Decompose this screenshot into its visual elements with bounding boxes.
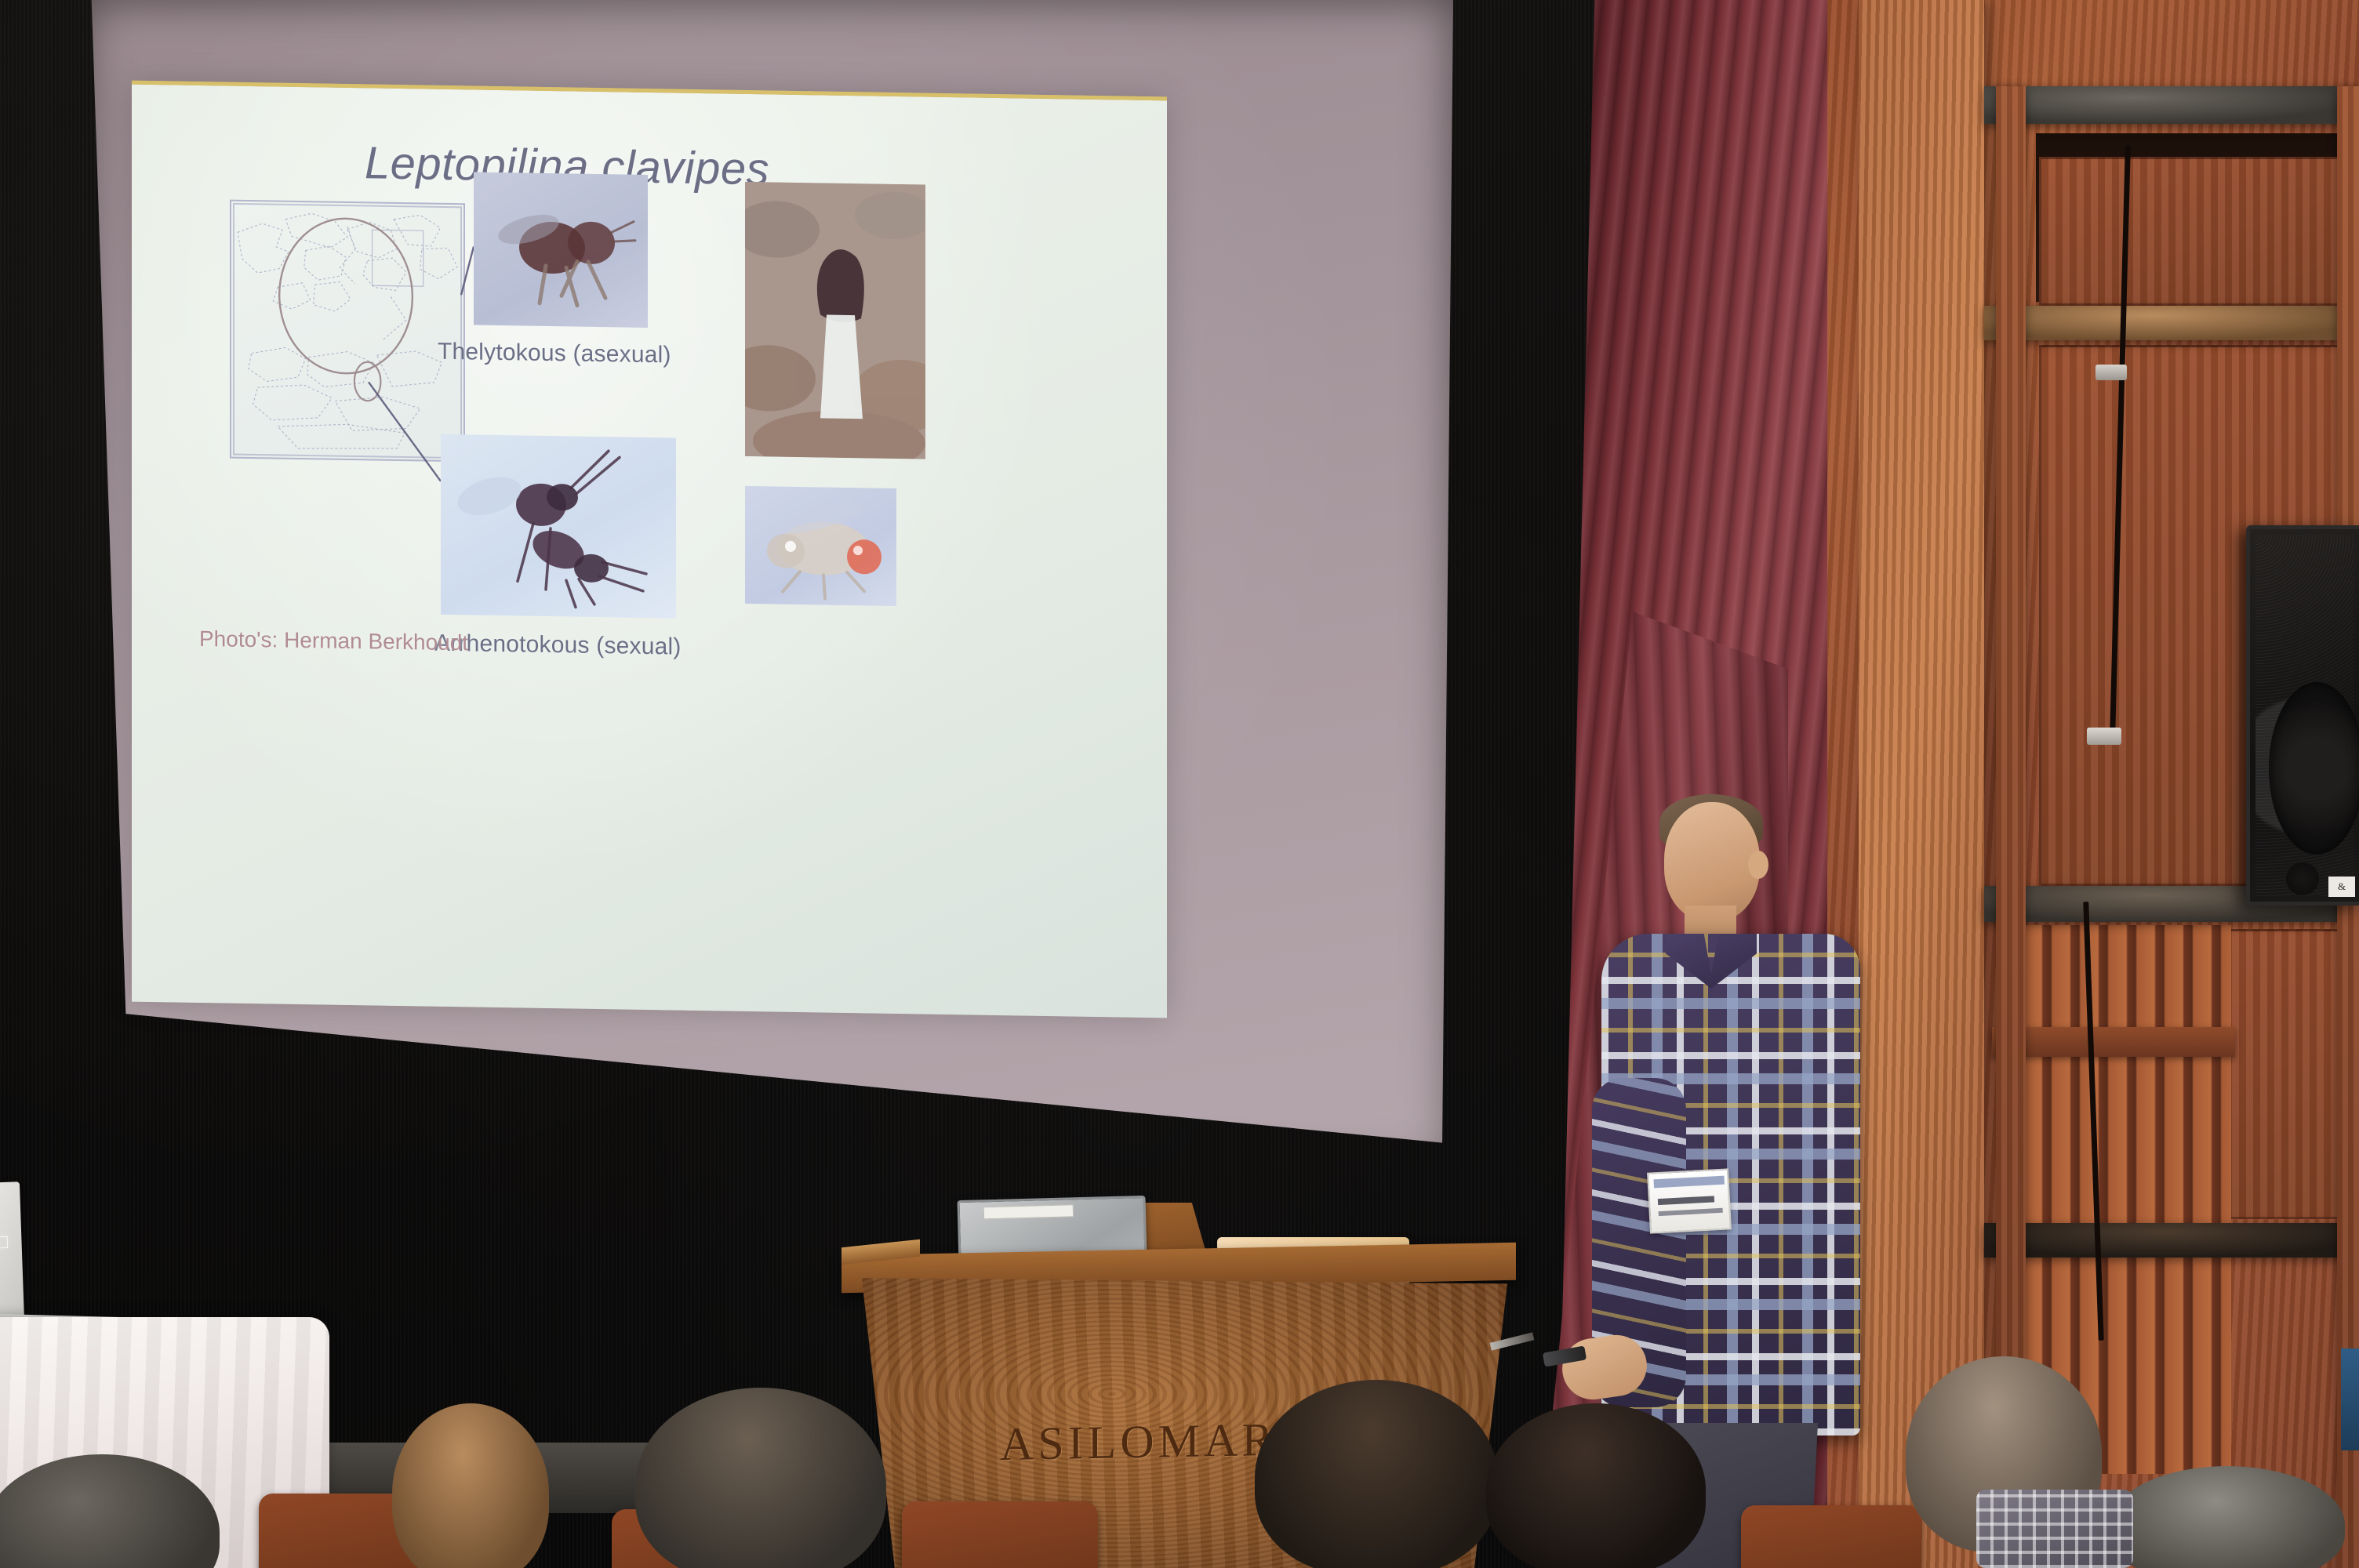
balustrade-rail <box>1992 1027 2235 1057</box>
badge-affiliation-line <box>1659 1208 1723 1216</box>
presentation-photo-scene: Leptopilina clavipes <box>0 0 2359 1568</box>
europe-distribution-map <box>230 200 465 463</box>
speaker-badge: & <box>2328 877 2355 897</box>
presenter-head <box>1664 802 1760 921</box>
badge-name-line <box>1658 1196 1714 1205</box>
wood-beam-horizontal-2 <box>1984 306 2359 340</box>
caption-arrhenotokous: Arrhenotokous (sexual) <box>434 630 682 661</box>
speaker-tweeter <box>2286 862 2319 895</box>
wood-beam-vertical-1 <box>1996 86 2026 1568</box>
audience-chair-back <box>1741 1505 1921 1568</box>
audience-member-head <box>1255 1380 1498 1568</box>
badge-header-strip <box>1653 1176 1724 1189</box>
audience-member-head <box>1486 1403 1706 1568</box>
photo-credit: Photo's: Herman Berkhoudt <box>199 626 468 655</box>
podium-engraved-label: ASILOMAR <box>1000 1413 1277 1472</box>
dell-asset-sticker <box>983 1204 1074 1219</box>
wood-post <box>1859 0 1984 1568</box>
stinkhorn-mushroom-photo <box>745 182 925 459</box>
apple-logo-icon-side:  <box>0 1232 9 1254</box>
audience-chair-back <box>902 1501 1098 1568</box>
audience-member-garment <box>1976 1490 2133 1568</box>
wasp-thelytokous-photo <box>474 172 648 327</box>
map-svg <box>231 201 463 461</box>
cable-clip-2 <box>2087 728 2121 745</box>
pa-speaker: & <box>2246 525 2359 906</box>
presenter-ear <box>1748 851 1768 879</box>
caption-thelytokous: Thelytokous (asexual) <box>438 339 671 369</box>
wood-beam-horizontal-1 <box>1984 86 2359 124</box>
wasp-arrhenotokous-pair-photo <box>441 434 676 619</box>
wall-panel-top <box>2039 157 2351 306</box>
blue-wall-strip <box>2341 1348 2359 1450</box>
speaker-woofer <box>2269 682 2359 855</box>
presenter-name-badge <box>1647 1168 1732 1233</box>
cable-clip-1 <box>2095 365 2127 380</box>
wood-beam-horizontal-4 <box>1984 1223 2359 1258</box>
projected-slide: Leptopilina clavipes <box>132 81 1167 1018</box>
drosophila-fly-photo <box>745 486 896 606</box>
